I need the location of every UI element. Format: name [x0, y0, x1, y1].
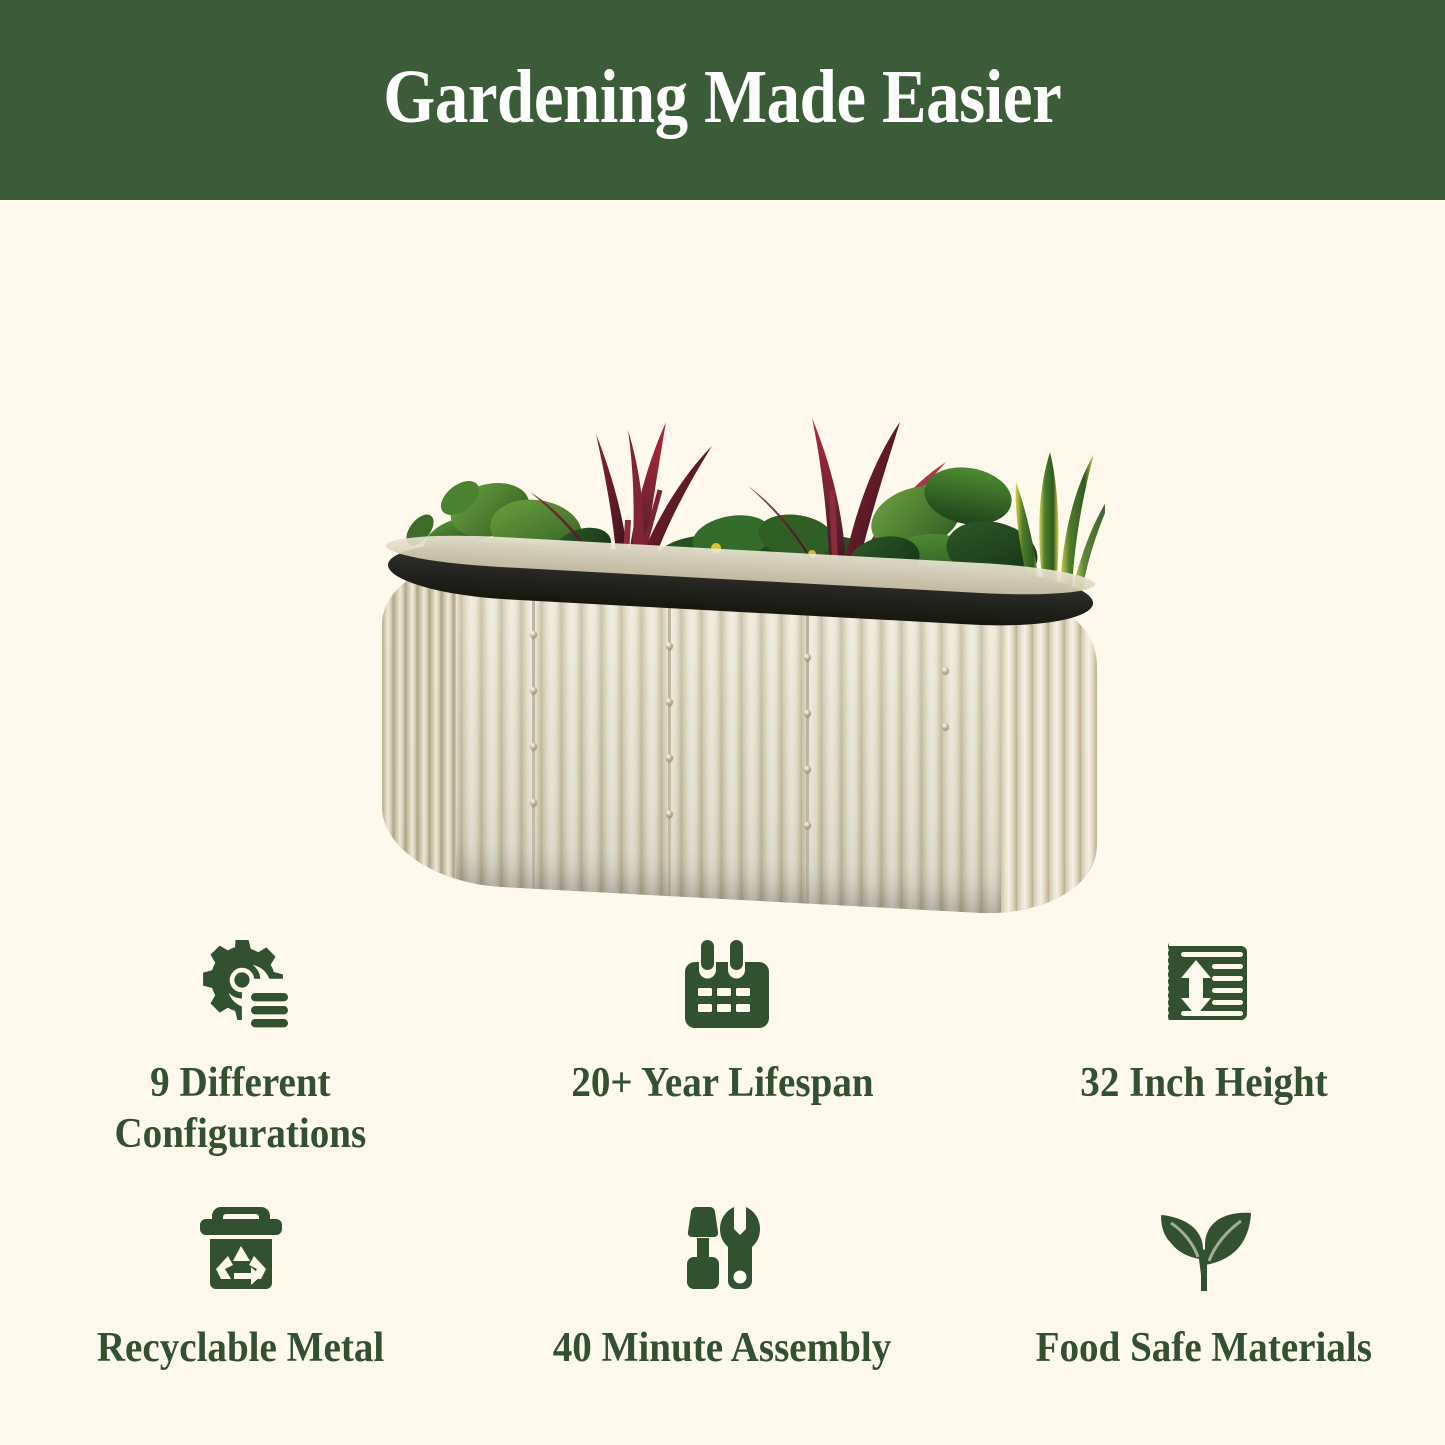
feature-assembly: 40 Minute Assembly [482, 1183, 964, 1374]
rivet [666, 642, 673, 649]
feature-food-safe: Food Safe Materials [963, 1183, 1445, 1374]
feature-label-line1: 20+ Year Lifespan [571, 1060, 873, 1106]
promo-page: Gardening Made Easier [0, 0, 1445, 1445]
raised-garden-bed [382, 570, 1097, 900]
tools-icon [670, 1199, 774, 1295]
hero-product-image [0, 200, 1445, 920]
leaf-sprout-icon [1152, 1199, 1256, 1295]
feature-recyclable: Recyclable Metal [0, 1183, 482, 1374]
rivet [804, 821, 811, 828]
page-title: Gardening Made Easier [383, 59, 1061, 141]
product-stage [360, 290, 1105, 930]
rivet [804, 765, 811, 772]
feature-label: 32 Inch Height [1080, 1058, 1327, 1109]
left-end-cap [382, 551, 456, 885]
feature-label-line1: 32 Inch Height [1080, 1060, 1327, 1106]
feature-label-line1: Food Safe Materials [1036, 1325, 1372, 1371]
feature-height: 32 Inch Height [963, 920, 1445, 1109]
feature-label-line2: Configurations [115, 1111, 367, 1157]
rivet [942, 723, 949, 730]
right-end-cap [1001, 584, 1097, 919]
feature-lifespan: 20+ Year Lifespan [482, 920, 964, 1109]
feature-label: Food Safe Materials [1036, 1323, 1372, 1374]
feature-label-line1: Recyclable Metal [97, 1325, 384, 1371]
feature-grid: 9 Different Configurations [0, 920, 1445, 1445]
rivet [942, 667, 949, 674]
feature-configurations: 9 Different Configurations [0, 920, 482, 1160]
feature-label: 20+ Year Lifespan [571, 1058, 873, 1109]
header-banner: Gardening Made Easier [0, 0, 1445, 200]
rivet [666, 754, 673, 761]
panel-seam [532, 559, 535, 889]
feature-label: 40 Minute Assembly [553, 1323, 892, 1374]
rivet [530, 687, 537, 694]
rivet [666, 698, 673, 705]
recycle-bin-icon [189, 1199, 293, 1295]
feature-label: Recyclable Metal [97, 1323, 384, 1374]
gear-settings-icon [189, 936, 293, 1032]
feature-label: 9 Different Configurations [115, 1058, 367, 1160]
feature-label-line1: 9 Different [151, 1060, 331, 1106]
rivet [530, 743, 537, 750]
rivet [530, 799, 537, 806]
feature-label-line1: 40 Minute Assembly [553, 1325, 892, 1371]
panel-seam [668, 566, 671, 896]
panel-seam [806, 574, 809, 904]
rivet [804, 653, 811, 660]
rivet [666, 810, 673, 817]
calendar-icon [670, 936, 774, 1032]
height-ruler-icon [1152, 936, 1256, 1032]
rivet [530, 631, 537, 638]
rivet [804, 709, 811, 716]
